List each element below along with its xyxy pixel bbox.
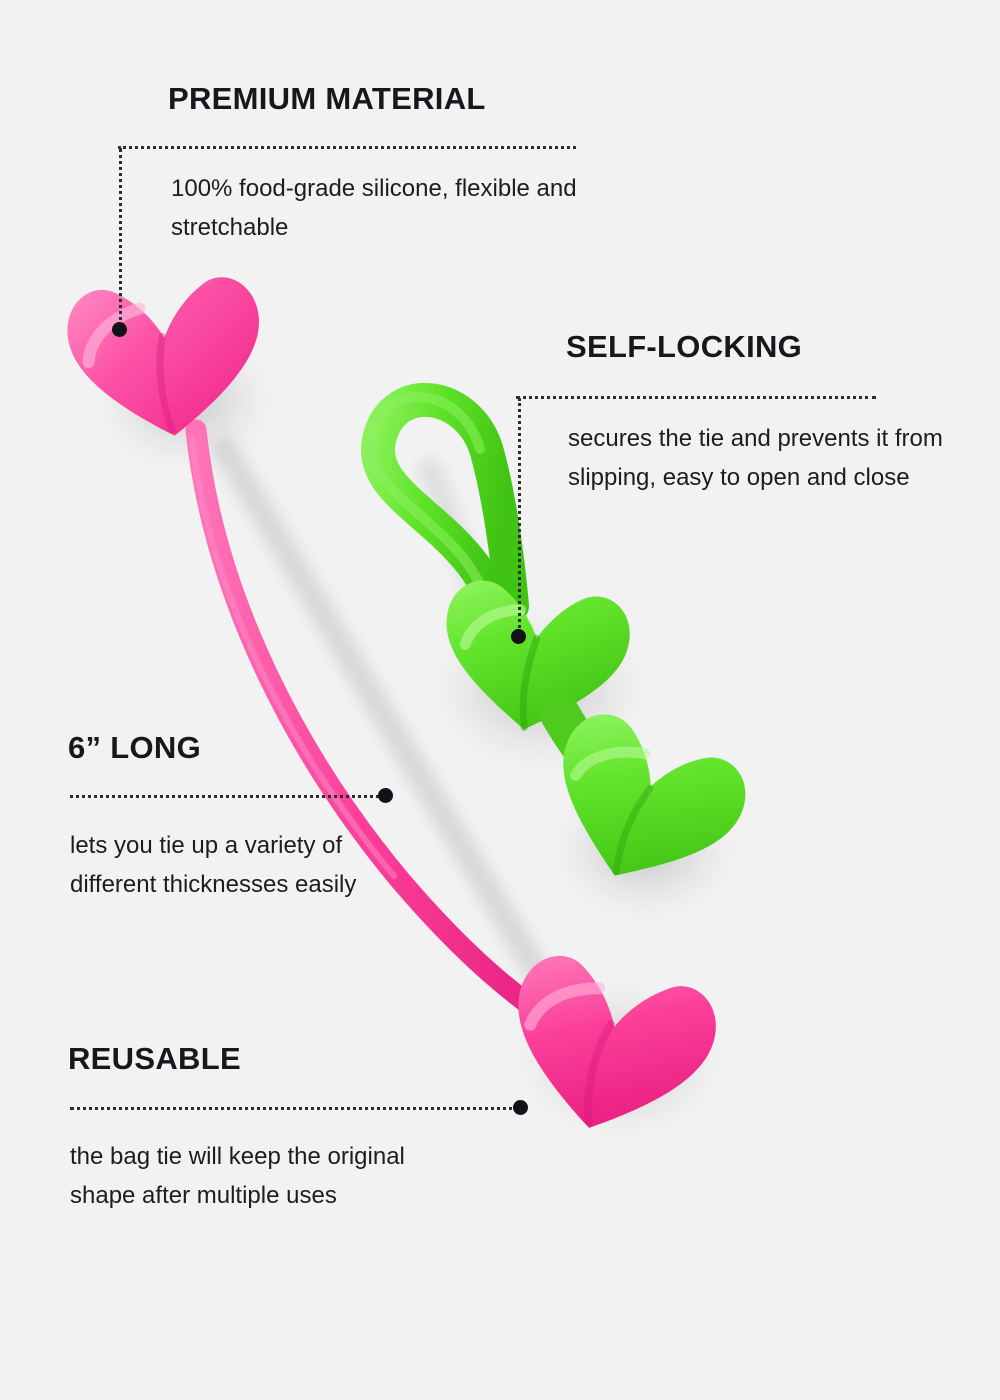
- callout-self-locking: SELF-LOCKING secures the tie and prevent…: [566, 330, 966, 498]
- callout-title-premium-material: PREMIUM MATERIAL: [168, 82, 588, 116]
- callout-body-premium-material: 100% food-grade silicone, flexible and s…: [171, 170, 588, 248]
- leader-line-self-locking-vertical: [518, 398, 521, 634]
- leader-dot-reusable: [513, 1100, 528, 1115]
- callout-title-six-inch-long: 6” LONG: [68, 731, 398, 765]
- callout-reusable: REUSABLE the bag tie will keep the origi…: [68, 1042, 448, 1216]
- infographic-canvas: PREMIUM MATERIAL 100% food-grade silicon…: [0, 0, 1000, 1400]
- leader-dot-self-locking: [511, 629, 526, 644]
- callout-premium-material: PREMIUM MATERIAL 100% food-grade silicon…: [168, 82, 588, 248]
- callout-body-self-locking: secures the tie and prevents it from sli…: [568, 420, 966, 498]
- leader-dot-premium: [112, 322, 127, 337]
- leader-line-premium-vertical: [119, 148, 122, 328]
- callout-six-inch-long: 6” LONG lets you tie up a variety of dif…: [68, 731, 398, 905]
- callout-body-six-inch-long: lets you tie up a variety of different t…: [70, 827, 398, 905]
- callout-title-reusable: REUSABLE: [68, 1042, 448, 1076]
- callout-body-reusable: the bag tie will keep the original shape…: [70, 1138, 448, 1216]
- callout-title-self-locking: SELF-LOCKING: [566, 330, 966, 364]
